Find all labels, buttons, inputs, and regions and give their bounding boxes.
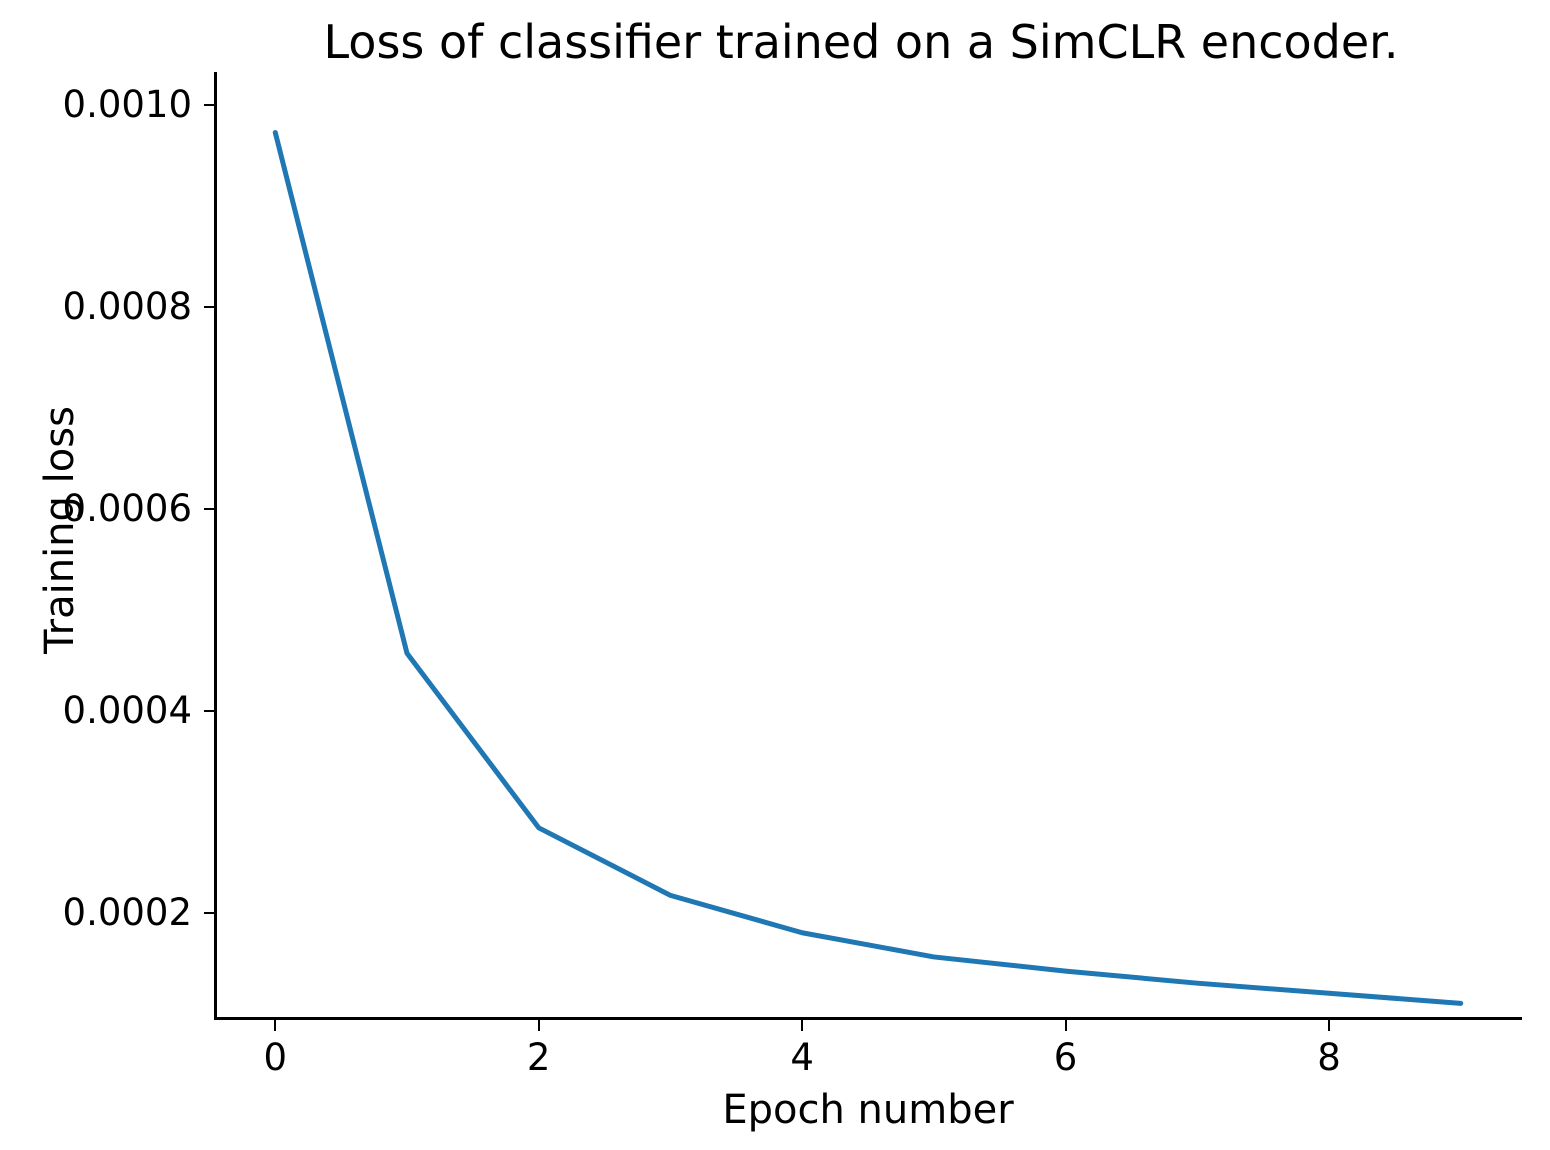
chart-title: Loss of classifier trained on a SimCLR e… xyxy=(216,14,1506,70)
y-tick-mark xyxy=(204,912,215,914)
y-tick-mark xyxy=(204,508,215,510)
y-tick-mark xyxy=(204,104,215,106)
x-tick-label: 4 xyxy=(762,1036,842,1080)
x-tick-mark xyxy=(801,1020,803,1031)
figure-canvas: Loss of classifier trained on a SimCLR e… xyxy=(0,0,1550,1150)
plot-area xyxy=(216,72,1520,1018)
y-axis-label: Training loss xyxy=(36,130,84,930)
x-tick-mark xyxy=(274,1020,276,1031)
x-tick-mark xyxy=(1065,1020,1067,1031)
y-tick-mark xyxy=(204,710,215,712)
x-tick-label: 6 xyxy=(1026,1036,1106,1080)
y-tick-label: 0.0004 xyxy=(2,692,192,729)
x-tick-label: 0 xyxy=(235,1036,315,1080)
data-line-svg xyxy=(216,72,1520,1018)
y-axis-ticks: 0.00020.00040.00060.00080.0010 xyxy=(0,0,216,1150)
training-loss-line xyxy=(275,133,1460,1004)
y-tick-label: 0.0010 xyxy=(2,86,192,123)
y-tick-label: 0.0008 xyxy=(2,288,192,325)
x-axis-label: Epoch number xyxy=(216,1086,1520,1134)
y-tick-label: 0.0002 xyxy=(2,894,192,931)
y-tick-mark xyxy=(204,306,215,308)
x-tick-mark xyxy=(1328,1020,1330,1031)
y-tick-label: 0.0006 xyxy=(2,490,192,527)
x-tick-mark xyxy=(538,1020,540,1031)
x-tick-label: 2 xyxy=(499,1036,579,1080)
x-tick-label: 8 xyxy=(1289,1036,1369,1080)
